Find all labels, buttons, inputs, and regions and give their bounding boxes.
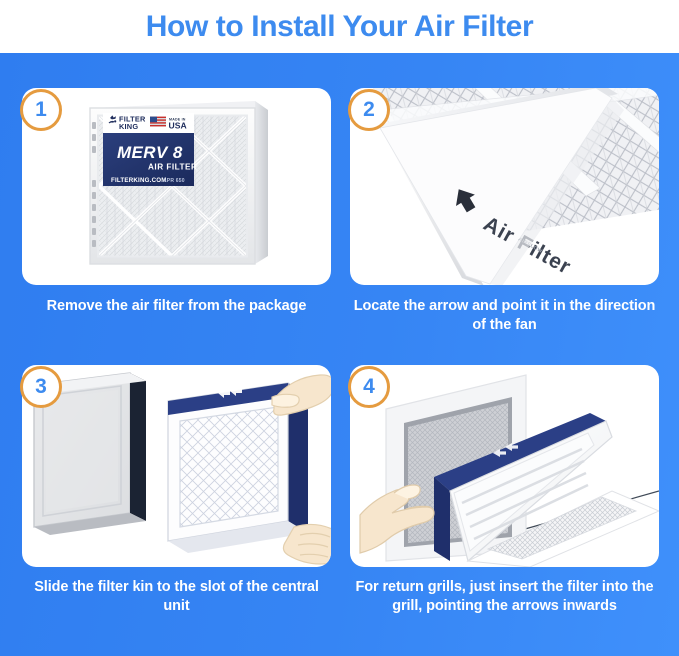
return-grill-illustration bbox=[350, 365, 659, 567]
title-bar: How to Install Your Air Filter bbox=[0, 0, 679, 53]
step-3-number-badge: 3 bbox=[20, 366, 62, 408]
step-3-image-card bbox=[22, 365, 331, 567]
step-1-number-badge: 1 bbox=[20, 89, 62, 131]
step-2-image-card: Air Filter AIRFLOW bbox=[350, 88, 659, 285]
infographic-root: How to Install Your Air Filter bbox=[0, 0, 679, 656]
filter-corner-arrow-photo: Air Filter AIRFLOW bbox=[350, 88, 659, 285]
step-1-caption: Remove the air filter from the package bbox=[22, 297, 331, 316]
usa-flag-icon bbox=[150, 117, 166, 127]
hand-top bbox=[272, 375, 331, 415]
step-4-caption: For return grills, just insert the filte… bbox=[350, 578, 659, 616]
svg-text:AIR FILTER: AIR FILTER bbox=[148, 163, 197, 172]
page-title: How to Install Your Air Filter bbox=[146, 10, 533, 44]
step-2-caption: Locate the arrow and point it in the dir… bbox=[350, 297, 659, 335]
air-filter-product-photo: FILTER KING MADE IN USA bbox=[22, 88, 331, 285]
filter-label: FILTER KING MADE IN USA bbox=[103, 113, 197, 186]
svg-text:MERV 8: MERV 8 bbox=[117, 143, 183, 162]
svg-text:KING: KING bbox=[119, 122, 138, 131]
step-1-image-card: FILTER KING MADE IN USA bbox=[22, 88, 331, 285]
svg-text:APR 650: APR 650 bbox=[163, 178, 185, 184]
step-2-number-badge: 2 bbox=[348, 89, 390, 131]
svg-text:FILTERKING.COM: FILTERKING.COM bbox=[111, 177, 167, 184]
slide-filter-illustration bbox=[22, 365, 331, 567]
step-4-image-card bbox=[350, 365, 659, 567]
step-3-caption: Slide the filter kin to the slot of the … bbox=[22, 578, 331, 616]
step-4-number-badge: 4 bbox=[348, 366, 390, 408]
svg-text:USA: USA bbox=[169, 120, 187, 130]
